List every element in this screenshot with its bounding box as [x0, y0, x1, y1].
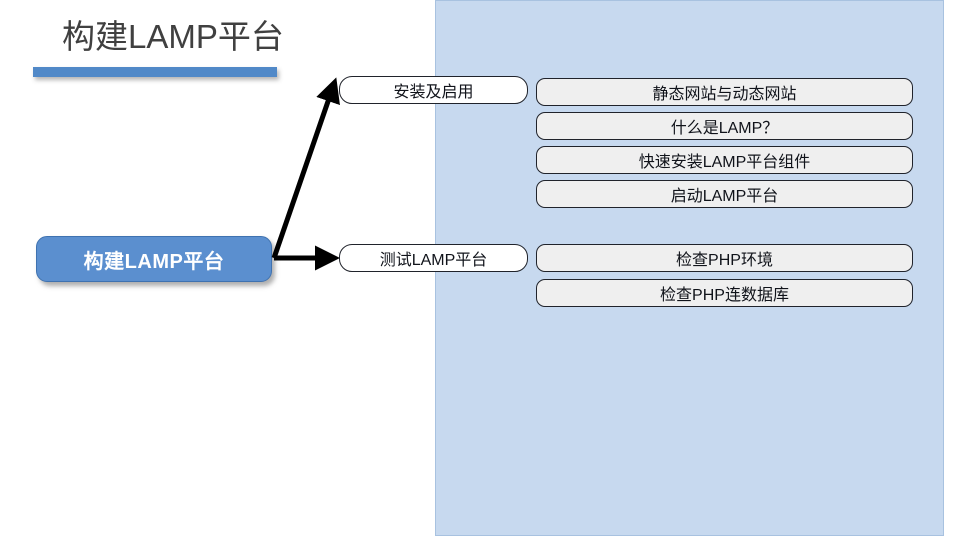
slide-canvas: 构建LAMP平台 构建LAMP平台 安装及启用 测试LAMP平台 静态网站与动态… — [0, 0, 960, 540]
title-underline-bar — [33, 67, 277, 77]
root-node[interactable]: 构建LAMP平台 — [36, 236, 272, 282]
topic-item-label: 检查PHP环境 — [676, 246, 773, 270]
topic-item-label: 静态网站与动态网站 — [652, 80, 796, 104]
page-title: 构建LAMP平台 — [62, 14, 284, 60]
topic-item[interactable]: 什么是LAMP？ — [536, 112, 913, 140]
title-block: 构建LAMP平台 — [36, 14, 416, 84]
branch-node-test-label: 测试LAMP平台 — [380, 246, 488, 270]
topic-item[interactable]: 检查PHP连数据库 — [536, 279, 913, 307]
topic-item-label: 检查PHP连数据库 — [660, 281, 789, 305]
connector-root-to-install — [274, 84, 334, 258]
topic-item[interactable]: 快速安装LAMP平台组件 — [536, 146, 913, 174]
topic-item[interactable]: 检查PHP环境 — [536, 244, 913, 272]
topic-item[interactable]: 启动LAMP平台 — [536, 180, 913, 208]
topic-item-label: 快速安装LAMP平台组件 — [639, 148, 811, 172]
branch-node-install-label: 安装及启用 — [393, 78, 473, 102]
branch-node-test[interactable]: 测试LAMP平台 — [339, 244, 528, 272]
topic-item-label: 什么是LAMP？ — [671, 114, 779, 138]
root-node-label: 构建LAMP平台 — [84, 245, 225, 274]
topic-item-label: 启动LAMP平台 — [671, 182, 779, 206]
topic-item[interactable]: 静态网站与动态网站 — [536, 78, 913, 106]
branch-node-install[interactable]: 安装及启用 — [339, 76, 528, 104]
